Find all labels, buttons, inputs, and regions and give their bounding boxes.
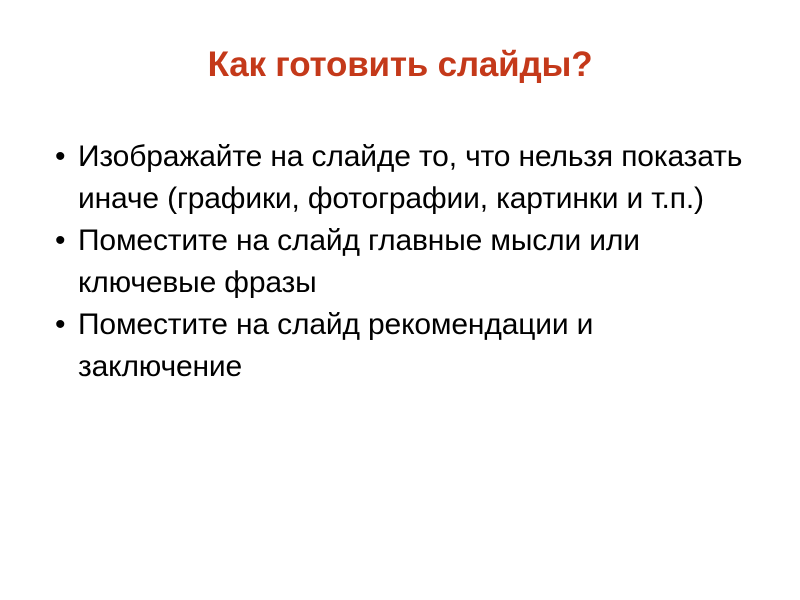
bullet-point-icon: •: [55, 220, 71, 262]
page-title: Как готовить слайды?: [208, 44, 593, 86]
slide-body-content: • Изображайте на слайде то, что нельзя п…: [50, 136, 750, 388]
list-item-text: Поместите на слайд главные мысли или клю…: [78, 220, 750, 304]
list-item: • Поместите на слайд рекомендации и закл…: [50, 304, 750, 388]
bullet-point-icon: •: [55, 304, 71, 346]
list-item-text: Поместите на слайд рекомендации и заключ…: [78, 304, 750, 388]
list-item: • Изображайте на слайде то, что нельзя п…: [50, 136, 750, 220]
presentation-slide: Как готовить слайды? • Изображайте на сл…: [0, 0, 800, 600]
list-item: • Поместите на слайд главные мысли или к…: [50, 220, 750, 304]
bullet-point-icon: •: [55, 136, 71, 178]
slide-title-container: Как готовить слайды?: [40, 44, 760, 86]
bullet-list: • Изображайте на слайде то, что нельзя п…: [50, 136, 750, 388]
list-item-text: Изображайте на слайде то, что нельзя пок…: [78, 136, 750, 220]
